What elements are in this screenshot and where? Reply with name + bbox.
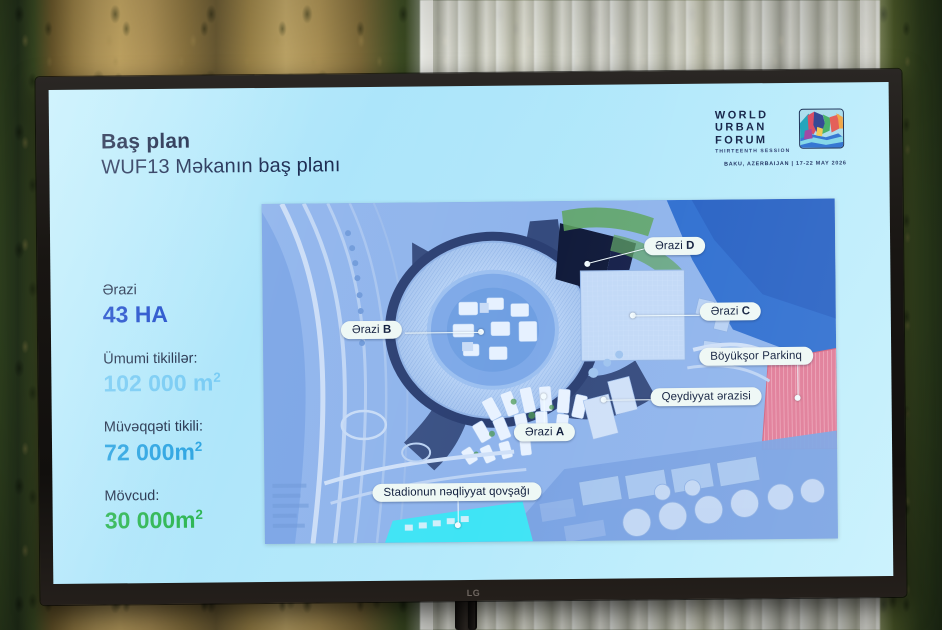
map-callout-label: Ərazi [525, 426, 556, 438]
map-callout-letter: B [383, 324, 392, 336]
presentation-slide: Baş plan WUF13 Məkanın baş planı WORLD U… [49, 82, 894, 584]
wuf-logo-line-2: URBAN [715, 121, 790, 134]
television: LG Baş plan WUF13 Məkanın baş planı WORL… [35, 69, 906, 605]
map-leader-erazi-a [544, 397, 546, 425]
page-subtitle: WUF13 Məkanın baş planı [101, 154, 340, 179]
map-callout-label: Böyükşor Parkinq [710, 350, 802, 363]
map-callout-erazi-b[interactable]: Ərazi B [341, 321, 403, 340]
wuf-logo-line-1: WORLD [715, 109, 790, 122]
map-callout-label: Stadionun nəqliyyat qovşağı [383, 485, 530, 498]
stat-value-text: 72 000m [104, 438, 195, 465]
page-title: Baş plan [101, 130, 190, 155]
stat-value-text: 102 000 m [103, 369, 213, 396]
map-callout-stadionun-neqliyyat-qovshagi[interactable]: Stadionun nəqliyyat qovşağı [372, 482, 541, 502]
map-callout-erazi-d[interactable]: Ərazi D [644, 237, 706, 256]
map-callout-letter: A [556, 426, 565, 438]
tv-cable [468, 600, 475, 630]
wuf-logo-wordmark: WORLD URBAN FORUM THIRTEENTH SESSION [715, 109, 791, 156]
tv-brand-logo: LG [467, 588, 481, 598]
stat-value-text: 30 000m [105, 507, 196, 534]
map-callout-label: Ərazi [711, 305, 742, 317]
stat-value-unit-exponent: 2 [213, 370, 221, 385]
stat-value-unit-exponent: 2 [195, 438, 203, 453]
map-callout-qeydiyyat-erazisi[interactable]: Qeydiyyat ərazisi [651, 387, 762, 406]
map-callout-label: Qeydiyyat ərazisi [662, 390, 751, 403]
map-callout-letter: D [686, 240, 695, 252]
map-callout-erazi-a[interactable]: Ərazi A [514, 423, 576, 442]
map-callout-erazi-c[interactable]: Ərazi C [700, 302, 762, 321]
stat-value-unit-exponent: 2 [195, 507, 203, 522]
stat-value-text: 43 HA [103, 301, 168, 328]
map-callout-label: Ərazi [352, 324, 383, 336]
site-master-plan-map: Ərazi D Ərazi C Ərazi B Ərazi A [262, 199, 838, 544]
wuf-logo-session: THIRTEENTH SESSION [715, 149, 790, 155]
map-leader-stadionun-neqliyyat [458, 498, 460, 524]
map-callout-letter: C [742, 305, 751, 317]
map-callout-label: Ərazi [655, 240, 686, 252]
wuf-logo-caption: BAKU, AZERBAIJAN | 17-22 MAY 2026 [715, 160, 855, 167]
wuf-mosaic-cube-icon [799, 108, 844, 148]
wuf-logo-line-3: FORUM [715, 134, 790, 147]
tv-bezel: LG Baş plan WUF13 Məkanın baş planı WORL… [35, 69, 906, 605]
map-callout-boyukshor-parkinq[interactable]: Böyükşor Parkinq [699, 347, 813, 366]
wuf-logo: WORLD URBAN FORUM THIRTEENTH SESSION [715, 108, 856, 167]
